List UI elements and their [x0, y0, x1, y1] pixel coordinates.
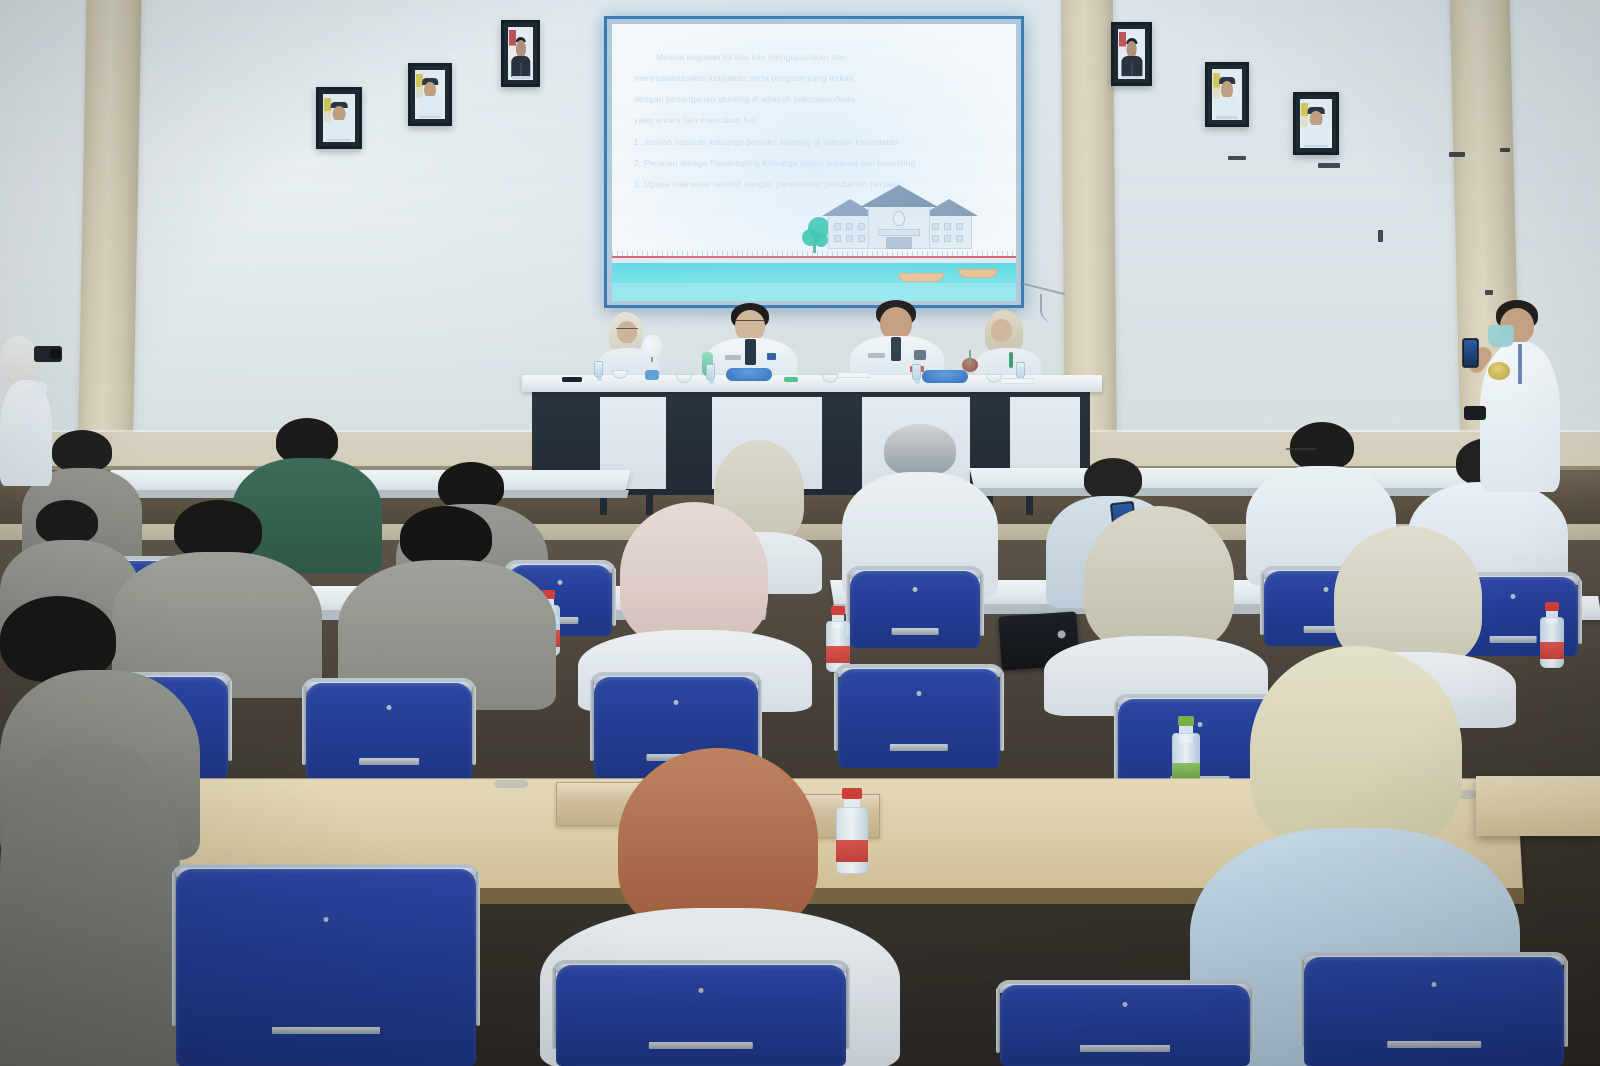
slide-line: menyosialisasikan kebijakan serta progra…	[634, 69, 1000, 88]
drinking-glass	[594, 361, 603, 378]
side-table	[1476, 776, 1600, 836]
meeting-room-photo: Melalui kegiatan ini kita kan mengupayak…	[0, 0, 1600, 1066]
portrait-official-left-1	[316, 87, 362, 149]
slide-line: yang antara lain mencakup hal:	[634, 111, 1000, 130]
chair[interactable]	[1000, 980, 1250, 1066]
wristwatch	[1464, 406, 1486, 420]
photographer-phone[interactable]	[1462, 338, 1479, 368]
slide-line: 2. Peranan tenaga Pendamping Keluarga da…	[634, 154, 1000, 173]
wall-mark	[1228, 156, 1246, 160]
slide-line: dengan penanganan stunting di wilayah ka…	[634, 90, 1000, 109]
water-bottle[interactable]	[1540, 602, 1564, 668]
portrait-president-right	[1111, 22, 1152, 86]
water-bottle[interactable]	[826, 606, 850, 672]
drinking-glass	[1016, 362, 1025, 379]
attendee-officer	[338, 506, 556, 702]
wall-mark	[1485, 290, 1493, 295]
head-table-leg	[1026, 495, 1033, 515]
face-mask	[1488, 325, 1514, 347]
chair[interactable]	[556, 960, 846, 1066]
blue-decoration	[645, 370, 659, 380]
drinking-glass	[706, 364, 715, 381]
projection-screen: Melalui kegiatan ini kita kan mengupayak…	[612, 24, 1016, 301]
chair[interactable]	[850, 566, 980, 648]
slide-line: Melalui kegiatan ini kita kan mengupayak…	[634, 48, 1000, 67]
attendee-officer-front-left-2	[0, 744, 180, 1066]
blue-table-decoration	[726, 368, 772, 381]
slide-illustration	[612, 191, 1016, 301]
portrait-official-right-1	[1205, 62, 1249, 127]
wall-mark	[1449, 152, 1465, 157]
portrait-official-right-2	[1293, 92, 1339, 155]
drinking-glass	[912, 364, 921, 381]
chair[interactable]	[176, 864, 476, 1066]
flower-arrangement	[642, 335, 662, 357]
document-papers	[836, 372, 870, 378]
portrait-official-left-2	[408, 63, 452, 126]
blue-table-decoration	[922, 370, 968, 383]
wall-mark	[1500, 148, 1510, 152]
wall-mark	[1378, 230, 1383, 242]
table-grommet	[494, 780, 528, 788]
portrait-president-left	[501, 20, 540, 87]
chair[interactable]	[306, 678, 472, 782]
table-phone	[562, 377, 582, 382]
wall-mark	[1318, 163, 1340, 168]
wall-column-left	[77, 0, 141, 470]
green-item	[784, 377, 798, 382]
chair[interactable]	[1304, 952, 1564, 1066]
camera[interactable]	[34, 346, 62, 362]
flower-stem	[969, 350, 971, 364]
document-papers	[1000, 378, 1034, 384]
slide-line: 1. Jumlah sasaran keluarga berisiko stun…	[634, 133, 1000, 152]
